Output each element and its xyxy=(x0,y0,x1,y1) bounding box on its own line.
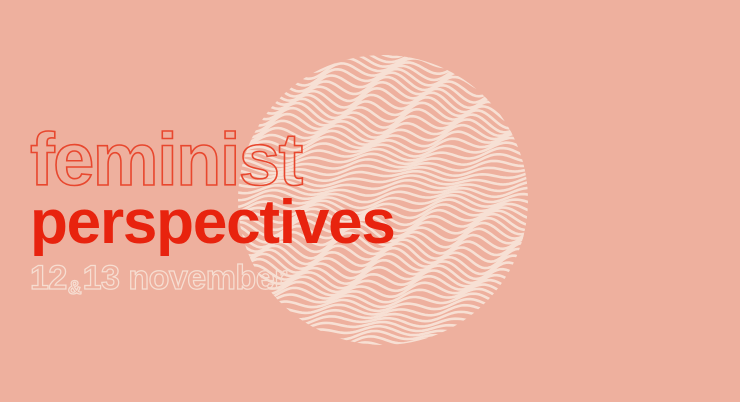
poster-canvas: feminist perspectives 12&13 november xyxy=(0,0,740,402)
title-line-feminist: feminist xyxy=(30,128,670,192)
headline-block: feminist perspectives 12&13 november xyxy=(30,128,670,298)
date-day-first: 12 xyxy=(30,259,67,297)
date-separator-ampersand: & xyxy=(68,278,82,299)
event-date: 12&13 november xyxy=(30,261,670,298)
date-day-second: 13 xyxy=(83,259,120,297)
date-month: november xyxy=(128,259,287,297)
title-line-perspectives: perspectives xyxy=(30,194,670,251)
